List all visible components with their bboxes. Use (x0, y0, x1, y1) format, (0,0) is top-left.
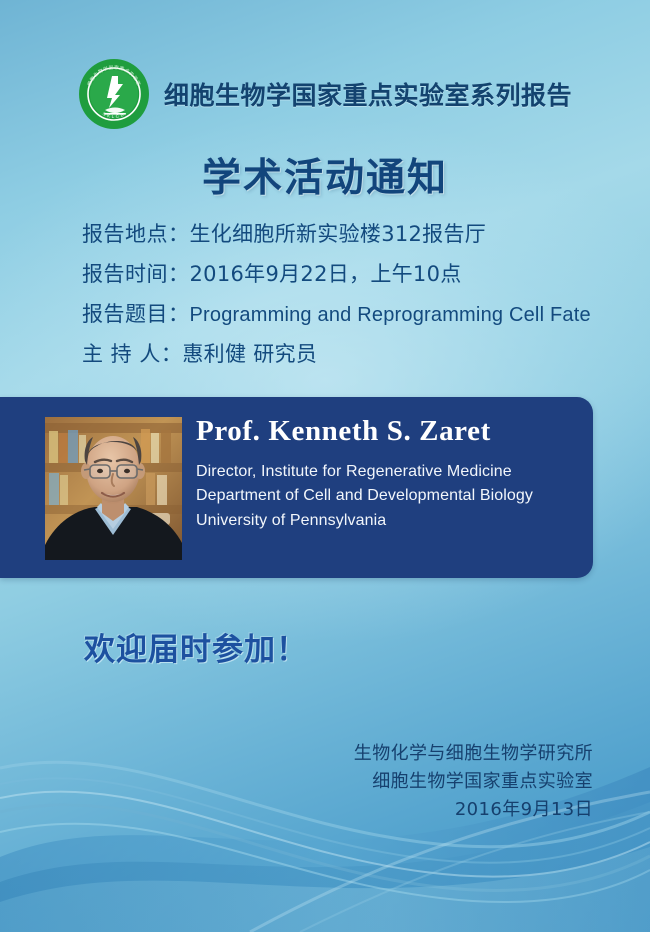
speaker-panel: Prof. Kenneth S. Zaret Director, Institu… (0, 397, 593, 578)
welcome-message: 欢迎届时参加！ (84, 624, 308, 669)
info-row-venue: 报告地点： 生化细胞所新实验楼312报告厅 (82, 218, 602, 248)
info-row-time: 报告时间： 2016年9月22日，上午10点 (82, 258, 602, 288)
footer-laboratory: 细胞生物学国家重点实验室 (354, 768, 593, 796)
info-label-venue: 报告地点： (82, 218, 190, 248)
speaker-affiliation-line-1: Director, Institute for Regenerative Med… (196, 460, 577, 484)
poster-footer: 生物化学与细胞生物学研究所 细胞生物学国家重点实验室 2016年9月13日 (354, 740, 593, 824)
info-value-venue: 生化细胞所新实验楼312报告厅 (190, 218, 487, 248)
info-label-host: 主 持 人： (82, 338, 182, 368)
poster-root: 细胞生物学国家重点实验室 SKLCB 细胞生物学国家重点实验室系列报告 学术活动… (0, 0, 650, 932)
footer-date: 2016年9月13日 (354, 796, 593, 824)
info-row-topic: 报告题目： Programming and Reprogramming Cell… (82, 298, 602, 328)
info-label-topic: 报告题目： (82, 298, 190, 328)
event-info-list: 报告地点： 生化细胞所新实验楼312报告厅 报告时间： 2016年9月22日，上… (82, 218, 602, 378)
page-title: 学术活动通知 (0, 147, 650, 203)
speaker-affiliation-line-2: Department of Cell and Developmental Bio… (196, 484, 577, 508)
info-value-time: 2016年9月22日，上午10点 (190, 258, 462, 288)
speaker-affiliation-line-3: University of Pennsylvania (196, 509, 577, 533)
info-label-time: 报告时间： (82, 258, 190, 288)
speaker-details: Prof. Kenneth S. Zaret Director, Institu… (196, 416, 577, 533)
info-value-host: 惠利健 研究员 (182, 338, 317, 368)
poster-header: 细胞生物学国家重点实验室 SKLCB 细胞生物学国家重点实验室系列报告 (78, 58, 572, 130)
footer-institute: 生物化学与细胞生物学研究所 (354, 740, 593, 768)
info-row-host: 主 持 人： 惠利健 研究员 (82, 338, 602, 368)
speaker-photo (45, 417, 182, 560)
info-value-topic: Programming and Reprogramming Cell Fate (190, 304, 591, 327)
speaker-name: Prof. Kenneth S. Zaret (196, 416, 577, 448)
speaker-affiliations: Director, Institute for Regenerative Med… (196, 460, 577, 533)
header-org-title: 细胞生物学国家重点实验室系列报告 (164, 76, 572, 112)
sklcb-logo: 细胞生物学国家重点实验室 SKLCB (78, 58, 150, 130)
